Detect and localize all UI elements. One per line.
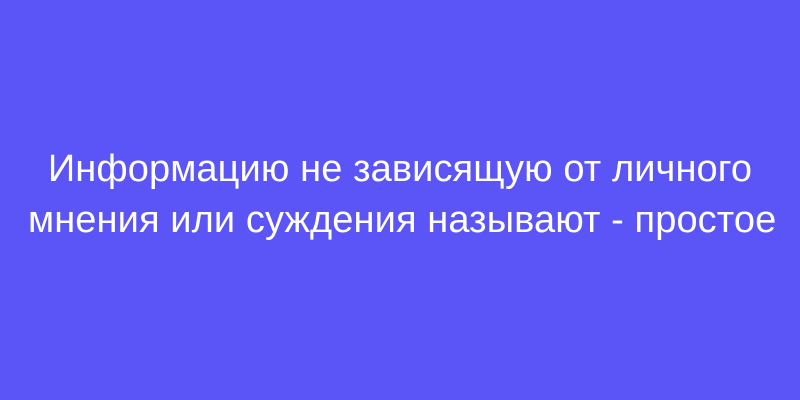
quote-line-2: мнения или суждения называют - простое bbox=[28, 195, 772, 246]
quote-text-block: Информацию не зависящую от личного мнени… bbox=[0, 144, 800, 246]
quote-card: Информацию не зависящую от личного мнени… bbox=[0, 0, 800, 400]
quote-line-1: Информацию не зависящую от личного bbox=[28, 144, 772, 195]
